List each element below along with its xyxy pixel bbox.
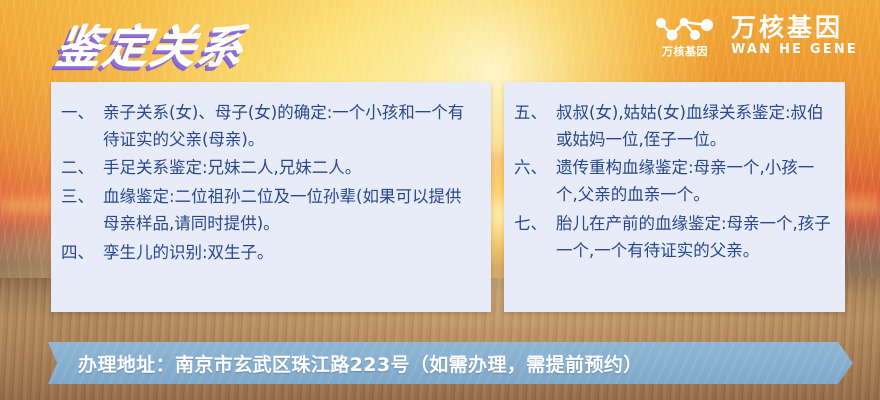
list-item-text: 血缘鉴定:二位祖孙二位及一位孙辈(如果可以提供母亲样品,请同时提供)。 <box>103 184 477 237</box>
brand-wordmark: 万核基因 WAN HE GENE <box>731 15 858 56</box>
brand-lockup: 万核基因 万核基因 WAN HE GENE <box>652 14 858 57</box>
poster-header: 鉴定关系 <box>0 0 880 82</box>
list-item-text: 手足关系鉴定:兄妹二人,兄妹二人。 <box>103 155 477 182</box>
list-item-marker: 三、 <box>61 184 103 237</box>
brand-name-cn: 万核基因 <box>731 15 858 40</box>
list-item-text: 胎儿在产前的血缘鉴定:母亲一个,孩子一个,一个有待证实的父亲。 <box>556 211 831 264</box>
poster-canvas: 鉴定关系 <box>0 0 880 400</box>
list-item-marker: 六、 <box>514 155 556 208</box>
address-banner-text: 办理地址：南京市玄武区珠江路223号（如需办理，需提前预约） <box>78 342 643 384</box>
list-item-marker: 二、 <box>61 155 103 182</box>
list-item-marker: 一、 <box>61 100 103 153</box>
list-item-text: 孪生儿的识别:双生子。 <box>103 240 477 267</box>
brand-logo: 万核基因 <box>652 14 718 57</box>
list-item: 五、 叔叔(女),姑姑(女)血绿关系鉴定:叔伯或姑妈一位,侄子一位。 <box>514 100 831 153</box>
content-panels: 一、 亲子关系(女)、母子(女)的确定:一个小孩和一个有待证实的父亲(母亲)。 … <box>51 82 845 312</box>
brand-logo-caption: 万核基因 <box>662 46 708 57</box>
panel-right: 五、 叔叔(女),姑姑(女)血绿关系鉴定:叔伯或姑妈一位,侄子一位。 六、 遗传… <box>504 82 845 312</box>
list-item-text: 亲子关系(女)、母子(女)的确定:一个小孩和一个有待证实的父亲(母亲)。 <box>103 100 477 153</box>
molecule-node-icon <box>653 14 717 44</box>
list-item-text: 遗传重构血缘鉴定:母亲一个,小孩一个,父亲的血亲一个。 <box>556 155 831 208</box>
list-item: 七、 胎儿在产前的血缘鉴定:母亲一个,孩子一个,一个有待证实的父亲。 <box>514 211 831 264</box>
list-item-marker: 七、 <box>514 211 556 264</box>
brand-name-en: WAN HE GENE <box>731 43 858 56</box>
list-item: 一、 亲子关系(女)、母子(女)的确定:一个小孩和一个有待证实的父亲(母亲)。 <box>61 100 477 153</box>
list-item: 二、 手足关系鉴定:兄妹二人,兄妹二人。 <box>61 155 477 182</box>
page-title: 鉴定关系 <box>52 11 250 76</box>
list-item: 四、 孪生儿的识别:双生子。 <box>61 240 477 267</box>
list-item-marker: 四、 <box>61 240 103 267</box>
panel-left: 一、 亲子关系(女)、母子(女)的确定:一个小孩和一个有待证实的父亲(母亲)。 … <box>51 82 491 312</box>
list-item: 六、 遗传重构血缘鉴定:母亲一个,小孩一个,父亲的血亲一个。 <box>514 155 831 208</box>
address-banner: 办理地址：南京市玄武区珠江路223号（如需办理，需提前预约） <box>48 342 853 384</box>
list-item-marker: 五、 <box>514 100 556 153</box>
list-item-text: 叔叔(女),姑姑(女)血绿关系鉴定:叔伯或姑妈一位,侄子一位。 <box>556 100 831 153</box>
list-item: 三、 血缘鉴定:二位祖孙二位及一位孙辈(如果可以提供母亲样品,请同时提供)。 <box>61 184 477 237</box>
